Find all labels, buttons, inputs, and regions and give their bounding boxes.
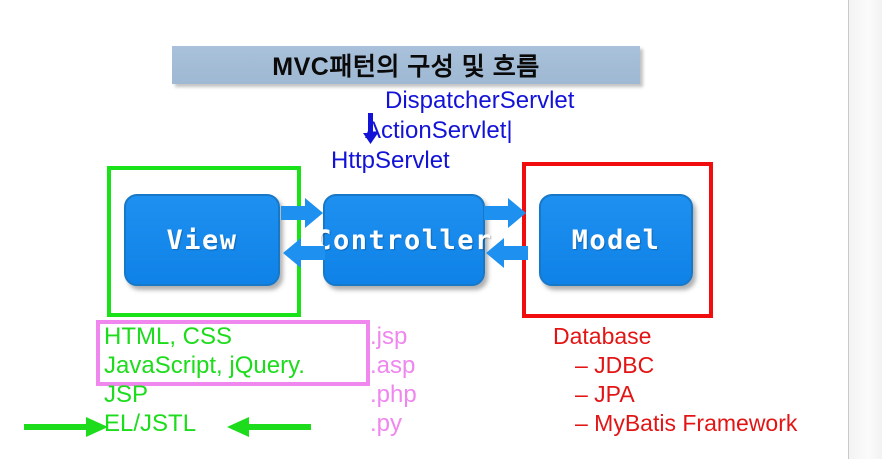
mvc-box-view[interactable]: View <box>124 194 280 286</box>
view-controller-arrows-icon <box>281 198 325 278</box>
slide-canvas: MVC패턴의 구성 및 흐름 DispatcherServlet ActionS… <box>0 0 882 459</box>
mvc-box-model-label: Model <box>572 225 661 256</box>
arrow-left-icon <box>225 415 311 439</box>
database-item-jdbc: – JDBC <box>553 351 797 380</box>
slide-title-banner: MVC패턴의 구성 및 흐름 <box>172 46 640 84</box>
file-extension-list: .jsp .asp .php .py <box>370 322 417 438</box>
extension-asp: .asp <box>370 351 417 380</box>
mvc-box-controller[interactable]: Controller <box>323 194 485 286</box>
model-tech-list: Database – JDBC – JPA – MyBatis Framewor… <box>553 322 797 438</box>
controller-model-arrows-icon <box>484 198 528 278</box>
mvc-box-controller-label: Controller <box>315 225 493 256</box>
arrow-right-icon <box>24 415 110 439</box>
view-tech-js-jquery: JavaScript, jQuery. <box>104 351 305 380</box>
extension-py: .py <box>370 409 417 438</box>
database-heading: Database <box>553 322 797 351</box>
right-gutter <box>849 0 882 459</box>
extension-php: .php <box>370 380 417 409</box>
page-title: MVC패턴의 구성 및 흐름 <box>272 47 539 83</box>
database-item-mybatis: – MyBatis Framework <box>553 409 797 438</box>
mvc-box-model[interactable]: Model <box>539 194 693 286</box>
arrow-down-icon <box>359 113 381 145</box>
view-tech-jsp: JSP <box>104 380 305 409</box>
view-tech-html-css: HTML, CSS <box>104 322 305 351</box>
extension-jsp: .jsp <box>370 322 417 351</box>
servlet-note-dispatcher: DispatcherServlet <box>325 86 655 116</box>
mvc-box-view-label: View <box>166 225 237 256</box>
database-item-jpa: – JPA <box>553 380 797 409</box>
